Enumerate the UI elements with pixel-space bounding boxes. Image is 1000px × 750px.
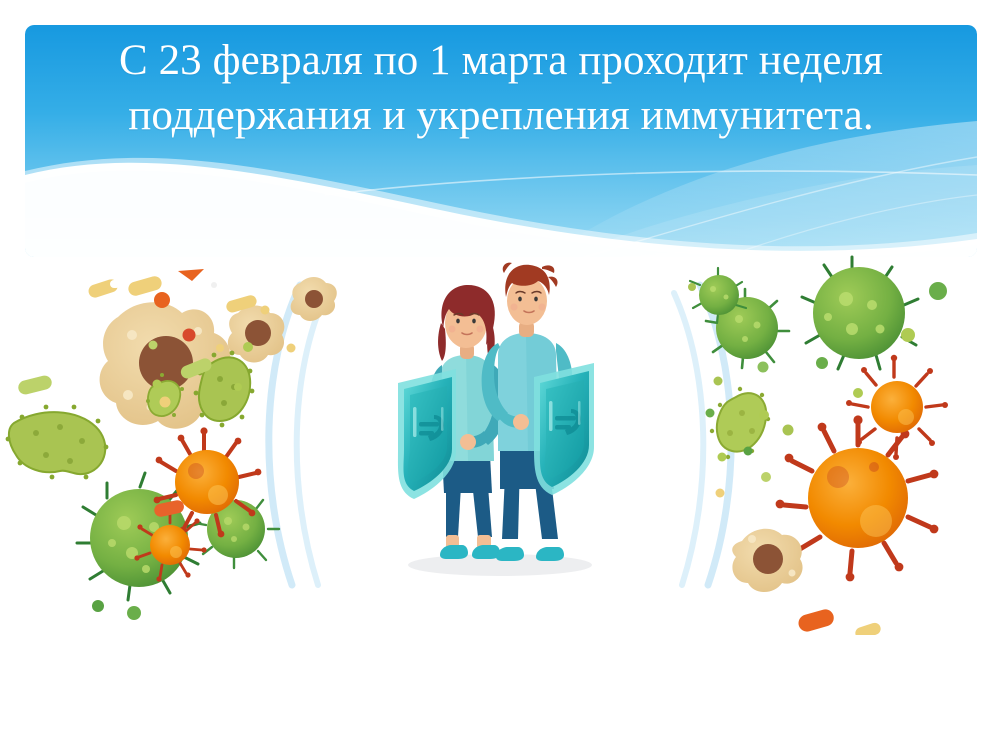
germ-lobed-blob (6, 405, 109, 480)
protection-shield-right (534, 363, 594, 495)
immunity-illustration (0, 255, 1000, 635)
germ-virus-green-top (802, 257, 918, 369)
germ-rods-right (755, 607, 913, 635)
germ-bacillus-right-a (710, 387, 770, 459)
germ-virus-orange-mid (846, 355, 948, 460)
germ-cluster-right (688, 257, 948, 635)
germ-amoeba-small (228, 306, 285, 363)
people-group (398, 263, 594, 576)
header-banner (25, 25, 977, 257)
germ-amoeba-right (732, 529, 802, 592)
slide-canvas: С 23 февраля по 1 марта проходит неделя … (0, 0, 1000, 750)
